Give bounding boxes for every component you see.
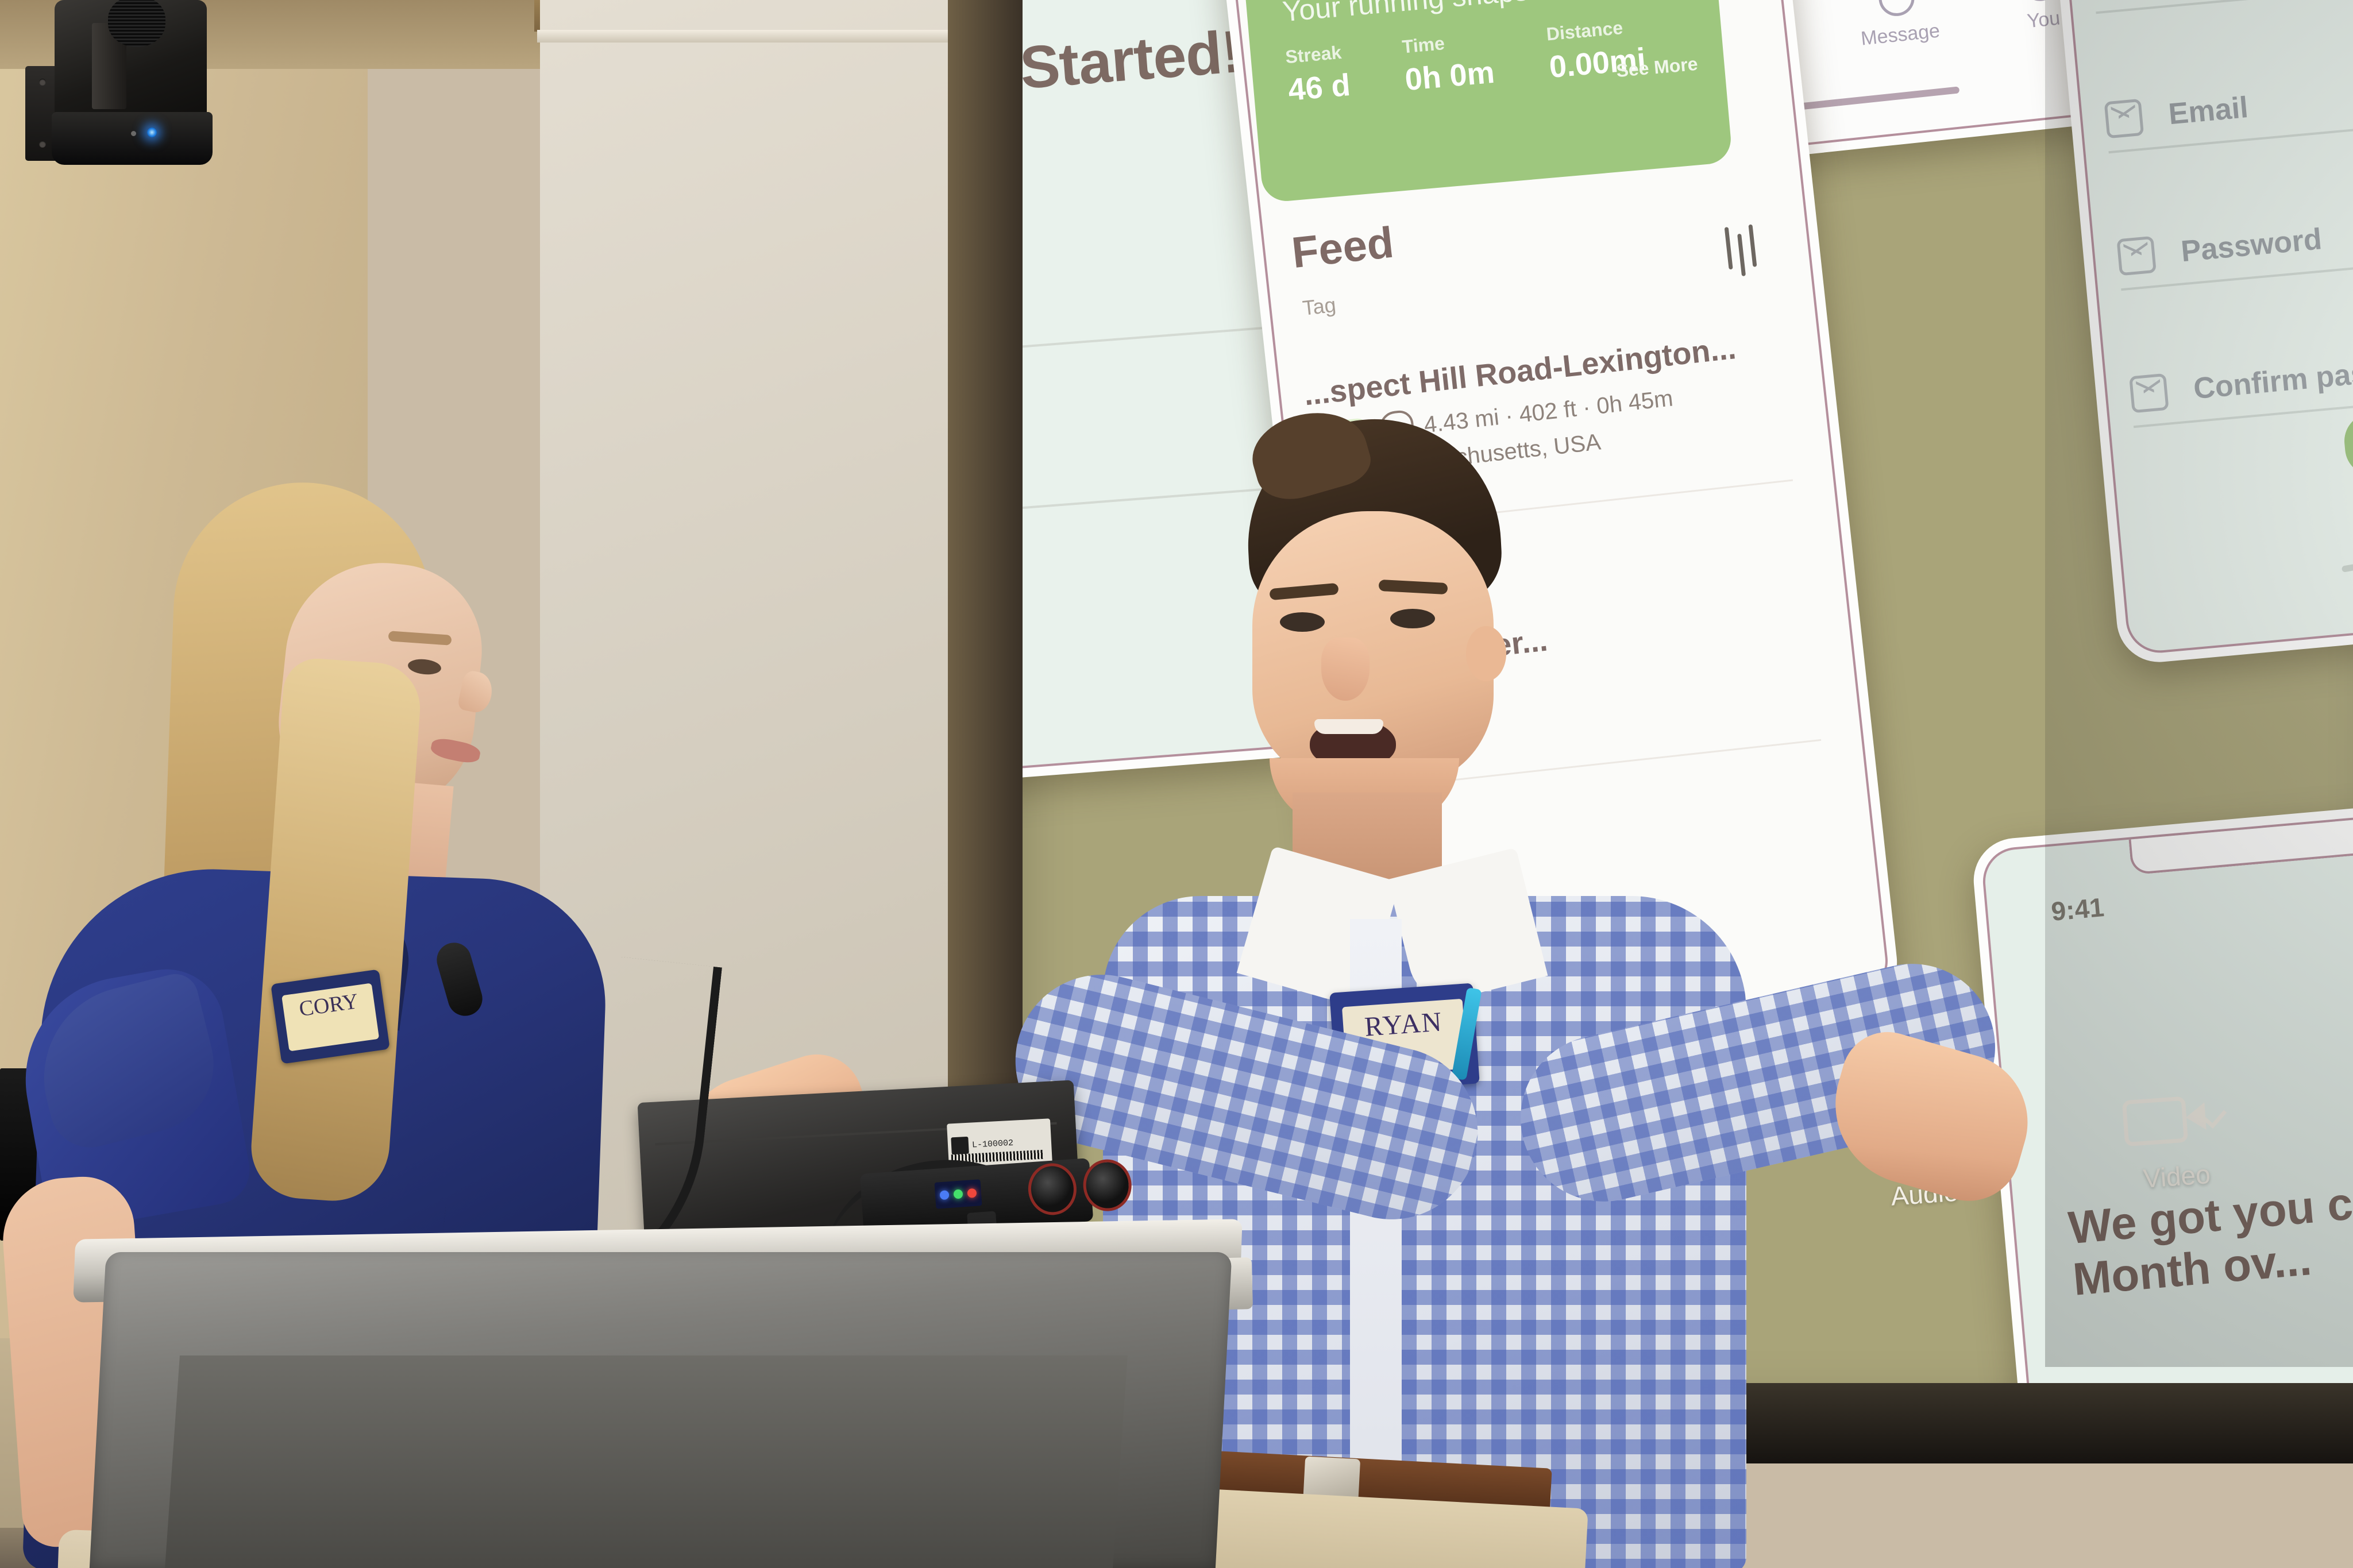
- camera-base: [52, 112, 213, 165]
- podium-front-panel: [165, 1355, 1128, 1568]
- stat-streak: Streak 46 d: [1284, 41, 1352, 108]
- stat-time: Time 0h 0m: [1401, 29, 1496, 98]
- nose: [1321, 638, 1370, 701]
- ear: [1466, 626, 1506, 681]
- name-tag-left: CORY: [271, 969, 390, 1064]
- device-led-panel: [934, 1179, 982, 1208]
- field-email[interactable]: Email: [2104, 57, 2353, 154]
- field-password[interactable]: Password: [2116, 195, 2353, 291]
- whiteboard-tray: [537, 30, 952, 43]
- microphone-capsule-pair: [1027, 1158, 1133, 1220]
- phone4-screen: Last Name Email Password: [2039, 0, 2353, 656]
- led-green: [953, 1189, 963, 1199]
- camera-sensor-glint: [131, 131, 136, 136]
- camera-lens-icon: [108, 0, 165, 47]
- eye: [1390, 609, 1435, 628]
- phone5-notch: [2129, 817, 2353, 875]
- running-snapshot-label: Your running snapshot: [1281, 0, 1569, 28]
- eye: [1280, 612, 1325, 632]
- filter-icon[interactable]: [1725, 225, 1758, 278]
- message-icon: [1877, 0, 1916, 18]
- camera-status-led: [147, 128, 157, 137]
- presentation-photo: Get Started! you are e Start Running Mes…: [0, 0, 2353, 1568]
- tab-you[interactable]: You: [2020, 0, 2063, 33]
- phone-mockup-signup: Last Name Email Password: [2029, 0, 2353, 666]
- led-red: [967, 1188, 977, 1198]
- led-blue: [940, 1190, 950, 1200]
- mail-icon: [2129, 373, 2169, 414]
- feed-heading: Feed: [1289, 217, 1396, 278]
- field-last-name[interactable]: Last Name: [2092, 0, 2353, 14]
- teeth: [1314, 719, 1383, 734]
- zoom-video-button[interactable]: Video: [2105, 1084, 2244, 1196]
- field-confirm-password[interactable]: Confirm password: [2129, 332, 2353, 428]
- mail-icon: [2104, 99, 2144, 139]
- profile-hero-card: 9:41 Paige Traiger Your running snapshot…: [1225, 0, 1733, 203]
- camera-icon: [2121, 1096, 2188, 1146]
- mail-icon: [2116, 236, 2157, 276]
- profile-icon: [2020, 0, 2059, 3]
- asset-qr-icon: [951, 1137, 969, 1155]
- status-bar-time: 9:41: [2050, 891, 2105, 927]
- tab-message[interactable]: Message: [1856, 0, 1941, 51]
- scroll-indicator[interactable]: [2342, 535, 2353, 573]
- snapshot-stats: Streak 46 d Time 0h 0m Distance 0.00mi: [1284, 16, 1647, 108]
- feed-tag-label: Tag: [1301, 293, 1337, 320]
